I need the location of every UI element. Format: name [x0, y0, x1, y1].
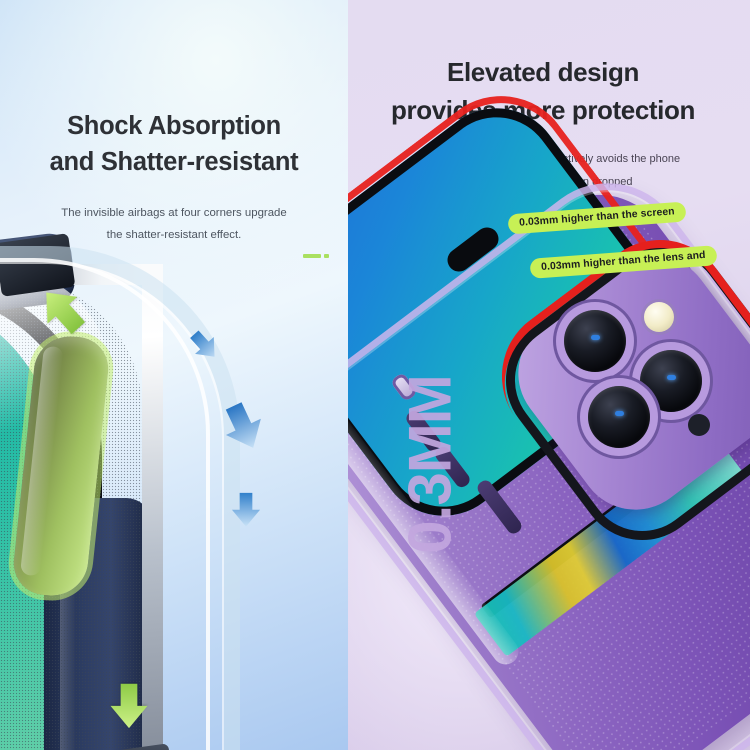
- corner-airbag-cutaway-illustration: [0, 250, 348, 750]
- left-heading-line-2: and Shatter-resistant: [0, 144, 348, 180]
- impact-arrow-side-icon: [227, 490, 265, 528]
- left-heading-line-1: Shock Absorption: [67, 112, 281, 140]
- expansion-arrow-down-icon: [104, 680, 154, 730]
- camera-lens-ultrawide: [640, 350, 702, 412]
- camera-microphone: [688, 414, 710, 436]
- thickness-label: 0.3MM: [396, 335, 465, 595]
- left-panel-heading: Shock Absorption and Shatter-resistant: [0, 108, 348, 180]
- camera-lens-telephoto: [588, 386, 650, 448]
- camera-lens-wide: [564, 310, 626, 372]
- shock-absorption-panel: Shock Absorption and Shatter-resistant T…: [0, 0, 348, 750]
- product-feature-composite: Shock Absorption and Shatter-resistant T…: [0, 0, 750, 750]
- camera-flash: [644, 302, 674, 332]
- elevated-design-panel: Elevated design provides more protection…: [348, 0, 750, 750]
- left-subtitle-line-1: The invisible airbags at four corners up…: [61, 207, 286, 219]
- right-heading-line-1: Elevated design: [447, 57, 639, 87]
- left-subtitle-line-2: the shatter-resistant effect.: [107, 229, 242, 241]
